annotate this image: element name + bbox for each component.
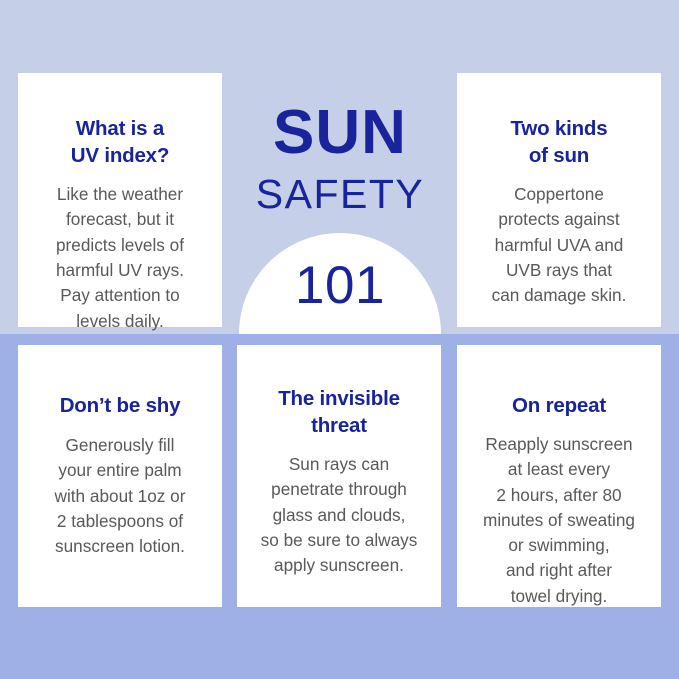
card-body: Reapply sunscreen at least every 2 hours…: [477, 432, 641, 609]
card-two-kinds-of-sun: Two kinds of sun Coppertone protects aga…: [457, 73, 661, 327]
card-body: Coppertone protects against harmful UVA …: [486, 182, 633, 308]
card-on-repeat: On repeat Reapply sunscreen at least eve…: [457, 345, 661, 607]
card-dont-be-shy: Don’t be shy Generously fill your entire…: [18, 345, 222, 607]
logo-block: SUN SAFETY 101: [230, 73, 450, 334]
card-uv-index: What is a UV index? Like the weather for…: [18, 73, 222, 327]
card-body: Generously fill your entire palm with ab…: [49, 433, 192, 559]
card-invisible-threat: The invisible threat Sun rays can penetr…: [237, 345, 441, 607]
card-heading: On repeat: [504, 392, 614, 419]
logo-number-101: 101: [230, 259, 450, 312]
card-body: Like the weather forecast, but it predic…: [50, 182, 190, 334]
sun-safety-infographic: What is a UV index? Like the weather for…: [0, 0, 679, 679]
card-heading: Two kinds of sun: [503, 115, 616, 169]
logo-title-safety: SAFETY: [230, 174, 450, 215]
card-heading: Don’t be shy: [52, 392, 189, 419]
logo-title-sun: SUN: [230, 102, 450, 164]
card-heading: The invisible threat: [270, 385, 408, 439]
card-heading: What is a UV index?: [63, 115, 177, 169]
card-body: Sun rays can penetrate through glass and…: [255, 452, 424, 578]
